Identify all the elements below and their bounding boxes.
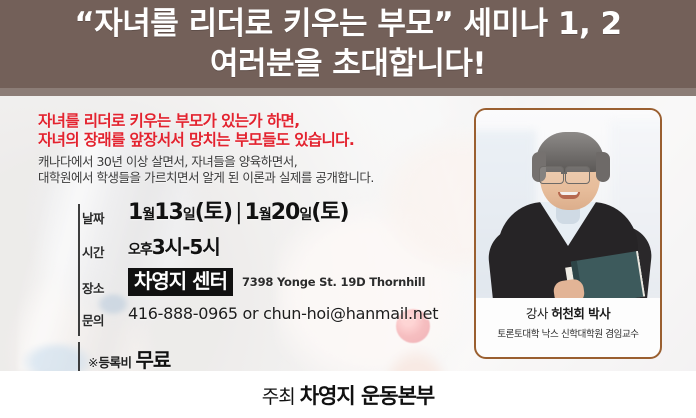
glasses-right-lens-icon bbox=[565, 166, 590, 184]
poster-main: 자녀를 리더로 키우는 부모가 있는가 하면, 자녀의 장래를 앞장서서 망치는… bbox=[0, 96, 696, 371]
speaker-photo bbox=[476, 110, 660, 298]
header-title-line-1: “자녀를 리더로 키우는 부모” 세미나 1, 2 bbox=[0, 5, 696, 43]
date-1-weekday: (토) bbox=[195, 200, 232, 225]
host-line: 주최차영지 운동본부 bbox=[0, 380, 696, 410]
subtext: 캐나다에서 30년 이상 살면서, 자녀들을 양육하면서, 대학원에서 학생들을… bbox=[38, 154, 468, 186]
date-1-month: 1 bbox=[128, 200, 142, 225]
date-2-month-unit: 월 bbox=[259, 207, 271, 223]
date-separator: | bbox=[232, 200, 244, 225]
info-label-time: 시간 bbox=[40, 242, 104, 261]
speaker-card: 강사 허천회 박사 토론토대학 낙스 신학대학원 겸임교수 bbox=[474, 108, 662, 359]
lead-headline-line-1: 자녀를 리더로 키우는 부모가 있는가 하면, bbox=[38, 112, 300, 130]
date-1-day: 13 bbox=[154, 200, 183, 225]
venue-name-badge: 차영지 센터 bbox=[128, 268, 233, 296]
fee-vertical-divider bbox=[78, 342, 80, 371]
info-value-date: 1월13일(토)|1월20일(토) bbox=[128, 200, 349, 228]
header-bottom-strip bbox=[0, 88, 696, 96]
time-end: 5시 bbox=[189, 235, 219, 259]
info-label-place: 장소 bbox=[40, 278, 104, 297]
info-label-contact: 문의 bbox=[40, 310, 104, 329]
info-value-time: 오후3시-5시 bbox=[128, 234, 220, 263]
info-label-date: 날짜 bbox=[40, 208, 104, 227]
date-2-weekday: (토) bbox=[311, 200, 348, 225]
date-1-day-unit: 일 bbox=[183, 207, 195, 223]
subtext-line-1: 캐나다에서 30년 이상 살면서, 자녀들을 양육하면서, bbox=[38, 154, 297, 169]
info-value-place: 차영지 센터7398 Yonge St. 19D Thornhill bbox=[128, 268, 425, 296]
subtext-line-2: 대학원에서 학생들을 가르치면서 알게 된 이론과 실제를 공개합니다. bbox=[38, 170, 468, 186]
poster-content: 자녀를 리더로 키우는 부모가 있는가 하면, 자녀의 장래를 앞장서서 망치는… bbox=[0, 96, 470, 371]
glasses-bridge-icon bbox=[561, 172, 567, 174]
lead-headline-line-2: 자녀의 장래를 앞장서서 망치는 부모들도 있습니다. bbox=[38, 131, 458, 150]
time-start: 3시 bbox=[152, 235, 182, 259]
date-2-month: 1 bbox=[245, 200, 259, 225]
lead-headline: 자녀를 리더로 키우는 부모가 있는가 하면, 자녀의 장래를 앞장서서 망치는… bbox=[38, 112, 458, 150]
date-1-month-unit: 월 bbox=[142, 207, 154, 223]
glasses-left-lens-icon bbox=[539, 166, 564, 184]
header-title-line-2: 여러분을 초대합니다! bbox=[0, 45, 696, 83]
speaker-title: 토론토대학 낙스 신학대학원 겸임교수 bbox=[476, 326, 660, 340]
speaker-hair-right bbox=[596, 152, 610, 182]
seminar-poster: “자녀를 리더로 키우는 부모” 세미나 1, 2 여러분을 초대합니다! 자녀… bbox=[0, 0, 696, 418]
speaker-name: 허천회 박사 bbox=[551, 306, 610, 321]
time-ampm: 오후 bbox=[128, 242, 152, 258]
date-2-day: 20 bbox=[271, 200, 300, 225]
host-label: 주최 bbox=[262, 386, 295, 408]
info-value-contact: 416-888-0965 or chun-hoi@hanmail.net bbox=[128, 304, 438, 324]
poster-header: “자녀를 리더로 키우는 부모” 세미나 1, 2 여러분을 초대합니다! bbox=[0, 0, 696, 96]
host-name: 차영지 운동본부 bbox=[300, 384, 435, 408]
fee-line: ※등록비무료 bbox=[88, 344, 170, 371]
date-2-day-unit: 일 bbox=[299, 207, 311, 223]
speaker-name-line: 강사 허천회 박사 bbox=[476, 303, 660, 322]
poster-footer: 주최차영지 운동본부 bbox=[0, 371, 696, 418]
speaker-role: 강사 bbox=[526, 306, 548, 321]
venue-address: 7398 Yonge St. 19D Thornhill bbox=[242, 275, 425, 289]
speaker-smile bbox=[558, 192, 580, 199]
